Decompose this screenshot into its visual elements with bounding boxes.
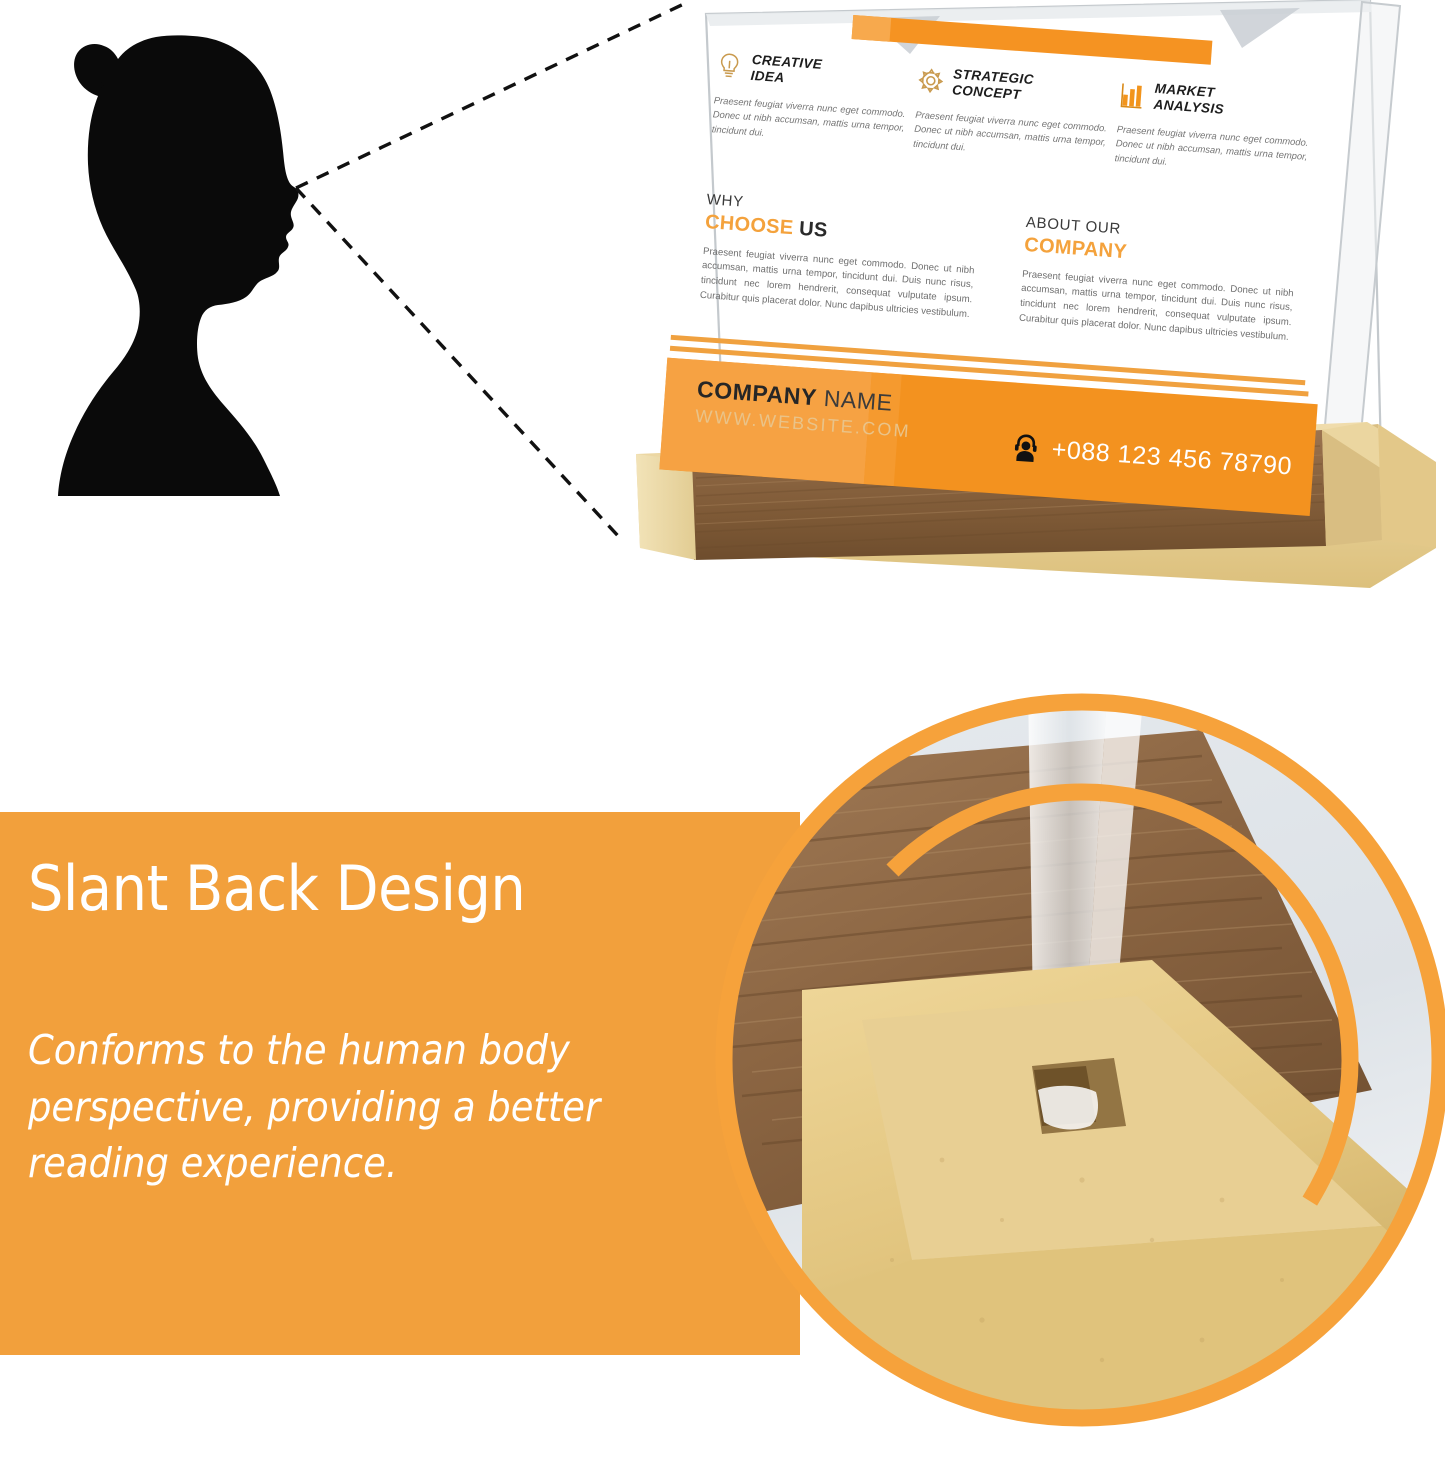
contact-block: +088 123 456 78790 bbox=[1011, 431, 1293, 483]
why-choose-us-block: WHY CHOOSE US Praesent feugiat viverra n… bbox=[699, 192, 978, 323]
feature-column: STRATEGIC CONCEPT Praesent feugiat viver… bbox=[913, 64, 1111, 164]
phone-number: +088 123 456 78790 bbox=[1051, 435, 1293, 481]
feature-column: MARKET ANALYSIS Praesent feugiat viverra… bbox=[1114, 78, 1312, 178]
section-body: Praesent feugiat viverra nunc eget commo… bbox=[699, 244, 975, 323]
section-body: Praesent feugiat viverra nunc eget commo… bbox=[1018, 267, 1294, 346]
feature-title: CREATIVE IDEA bbox=[750, 52, 823, 90]
feature-body: Praesent feugiat viverra nunc eget commo… bbox=[1114, 122, 1309, 179]
bar-chart-icon bbox=[1118, 80, 1146, 112]
feature-body: Praesent feugiat viverra nunc eget commo… bbox=[913, 108, 1108, 165]
closeup-photo bbox=[682, 660, 1445, 1460]
feature-column: CREATIVE IDEA Praesent feugiat viverra n… bbox=[711, 49, 909, 149]
flyer-text-sections: WHY CHOOSE US Praesent feugiat viverra n… bbox=[699, 192, 1325, 348]
headset-operator-icon bbox=[1011, 431, 1041, 465]
head-silhouette-icon bbox=[18, 28, 338, 498]
feature-headline: Slant Back Design bbox=[28, 852, 525, 925]
orange-feature-panel: Slant Back Design Conforms to the human … bbox=[0, 812, 800, 1355]
flyer-artwork: CREATIVE IDEA Praesent feugiat viverra n… bbox=[663, 0, 1358, 552]
gear-icon bbox=[917, 65, 945, 97]
flyer-footer-bar: COMPANY NAME WWW.WEBSITE.COM bbox=[659, 358, 1317, 516]
feature-title: MARKET ANALYSIS bbox=[1153, 81, 1226, 119]
flyer-feature-columns: CREATIVE IDEA Praesent feugiat viverra n… bbox=[711, 49, 1324, 179]
lightbulb-icon bbox=[715, 51, 743, 83]
feature-subcopy: Conforms to the human body perspective, … bbox=[28, 1022, 718, 1192]
flyer-top-banner bbox=[852, 15, 1213, 65]
feature-callout-section: Slant Back Design Conforms to the human … bbox=[0, 812, 1445, 1355]
about-our-company-block: ABOUT OUR COMPANY Praesent feugiat viver… bbox=[1018, 215, 1297, 346]
feature-body: Praesent feugiat viverra nunc eget commo… bbox=[711, 93, 906, 150]
product-marketing-image: CREATIVE IDEA Praesent feugiat viverra n… bbox=[0, 0, 1445, 1355]
product-closeup-circle bbox=[682, 660, 1445, 1460]
feature-title: STRATEGIC CONCEPT bbox=[952, 66, 1035, 105]
